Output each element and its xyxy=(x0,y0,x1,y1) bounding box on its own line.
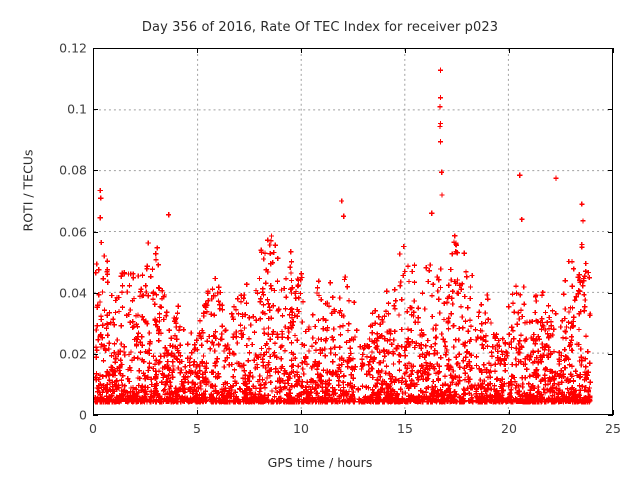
y-tick-mark xyxy=(93,232,98,233)
x-tick-mark xyxy=(93,48,94,53)
x-tick-label: 15 xyxy=(385,421,425,436)
x-tick-label: 25 xyxy=(593,421,633,436)
y-tick-mark xyxy=(93,109,98,110)
roti-scatter-points xyxy=(94,68,593,405)
y-tick-mark xyxy=(93,415,98,416)
x-tick-label: 20 xyxy=(489,421,529,436)
x-tick-mark xyxy=(197,410,198,415)
y-tick-mark xyxy=(93,293,98,294)
y-tick-label: 0.1 xyxy=(27,102,87,117)
x-tick-mark xyxy=(613,48,614,53)
y-tick-mark xyxy=(608,170,613,171)
y-tick-mark xyxy=(608,232,613,233)
y-tick-label: 0.08 xyxy=(27,163,87,178)
y-tick-mark xyxy=(608,109,613,110)
y-tick-mark xyxy=(608,415,613,416)
x-tick-mark xyxy=(509,48,510,53)
plot-area xyxy=(93,48,613,415)
x-tick-mark xyxy=(405,48,406,53)
y-tick-mark xyxy=(93,354,98,355)
y-tick-mark xyxy=(608,354,613,355)
x-tick-label: 10 xyxy=(281,421,321,436)
x-tick-mark xyxy=(405,410,406,415)
y-tick-mark xyxy=(608,293,613,294)
x-tick-label: 0 xyxy=(73,421,113,436)
x-tick-mark xyxy=(301,410,302,415)
x-tick-mark xyxy=(613,410,614,415)
x-tick-label: 5 xyxy=(177,421,217,436)
data-points-layer xyxy=(94,49,612,414)
x-axis-label: GPS time / hours xyxy=(0,455,640,470)
x-tick-mark xyxy=(197,48,198,53)
chart-container: Day 356 of 2016, Rate Of TEC Index for r… xyxy=(0,0,640,480)
y-tick-label: 0.02 xyxy=(27,346,87,361)
y-tick-label: 0.06 xyxy=(27,224,87,239)
y-tick-label: 0.12 xyxy=(27,41,87,56)
y-tick-mark xyxy=(93,170,98,171)
x-tick-mark xyxy=(93,410,94,415)
y-axis-label: ROTI / TECUs xyxy=(21,111,36,271)
x-tick-mark xyxy=(301,48,302,53)
chart-title: Day 356 of 2016, Rate Of TEC Index for r… xyxy=(0,20,640,35)
y-tick-label: 0.04 xyxy=(27,285,87,300)
x-tick-mark xyxy=(509,410,510,415)
